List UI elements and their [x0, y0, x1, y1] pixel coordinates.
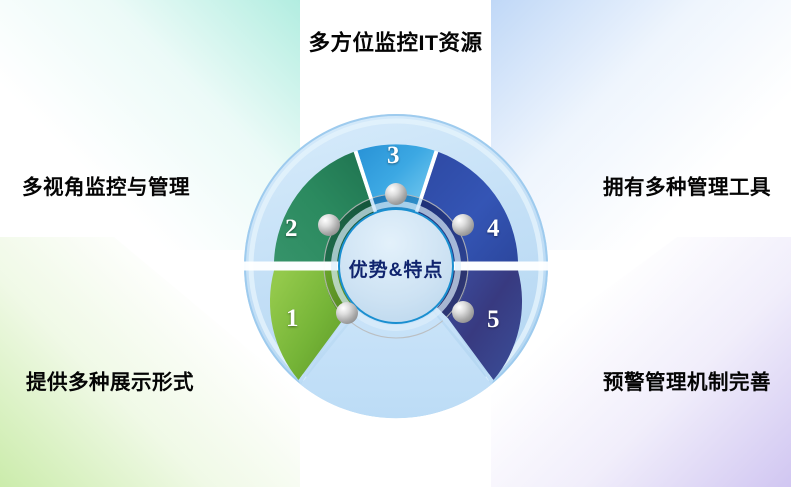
segment-label-4: 拥有多种管理工具 [603, 170, 771, 200]
marker-ball-5 [452, 301, 474, 323]
diagram-title: 多方位监控IT资源 [308, 26, 482, 57]
marker-ball-2 [318, 214, 340, 236]
diagram-canvas: 多方位监控IT资源 多视角监控与管理 拥有多种管理工具 提供多种展示形式 预警管… [0, 0, 791, 487]
radial-wheel: 1 2 3 4 5 优势&特点 [243, 113, 549, 419]
marker-ball-4 [452, 214, 474, 236]
marker-ball-3 [385, 183, 407, 205]
segment-label-5: 预警管理机制完善 [603, 365, 771, 395]
segment-label-2: 多视角监控与管理 [22, 170, 190, 200]
segment-label-1: 提供多种展示形式 [26, 365, 194, 395]
wheel-graphic [243, 113, 549, 419]
marker-ball-1 [336, 302, 358, 324]
